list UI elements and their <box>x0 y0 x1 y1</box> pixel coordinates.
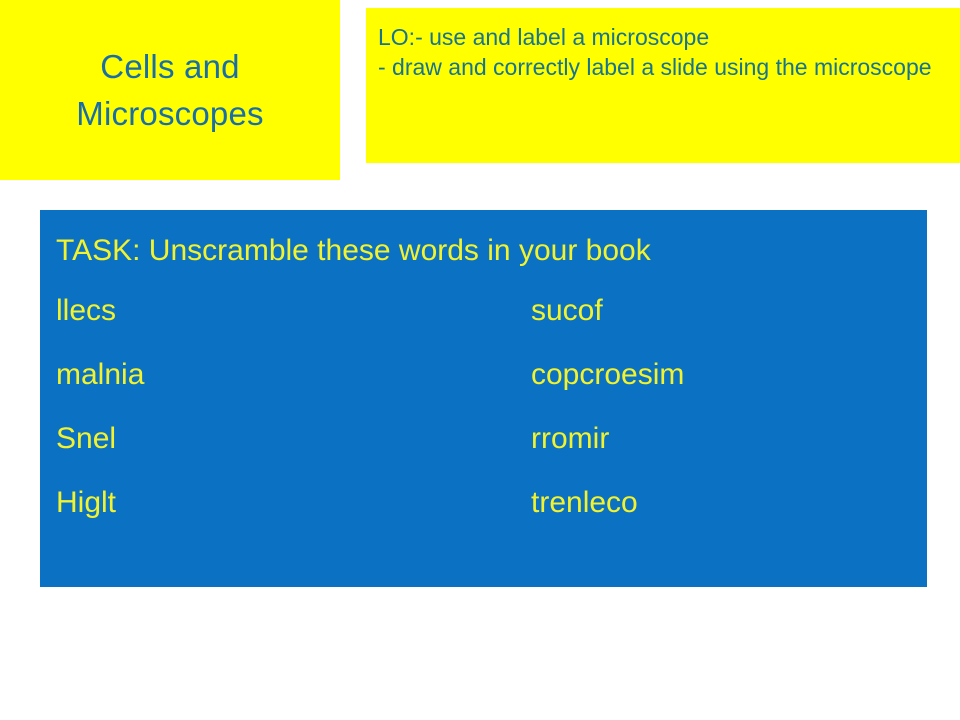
task-word-row: Higlt trenleco <box>56 484 927 548</box>
learning-objectives-box: LO:- use and label a microscope - draw a… <box>366 8 960 163</box>
task-heading: TASK: Unscramble these words in your boo… <box>56 232 927 270</box>
scrambled-word: malnia <box>56 356 144 394</box>
scrambled-word: rromir <box>531 420 609 458</box>
scrambled-word: llecs <box>56 292 116 330</box>
slide-title-line-2: Microscopes <box>76 90 263 137</box>
scrambled-word: copcroesim <box>531 356 684 394</box>
scrambled-word: sucof <box>531 292 603 330</box>
scrambled-word: trenleco <box>531 484 638 522</box>
task-box: TASK: Unscramble these words in your boo… <box>40 210 927 587</box>
learning-objective-line-1: LO:- use and label a microscope <box>378 22 960 52</box>
task-word-row: llecs sucof <box>56 292 927 356</box>
scrambled-word: Snel <box>56 420 116 458</box>
learning-objective-line-2: - draw and correctly label a slide using… <box>378 52 938 82</box>
task-word-row: Snel rromir <box>56 420 927 484</box>
slide-title-box: Cells and Microscopes <box>0 0 340 180</box>
task-word-row: malnia copcroesim <box>56 356 927 420</box>
slide-title-line-1: Cells and <box>100 43 239 90</box>
scrambled-word: Higlt <box>56 484 116 522</box>
